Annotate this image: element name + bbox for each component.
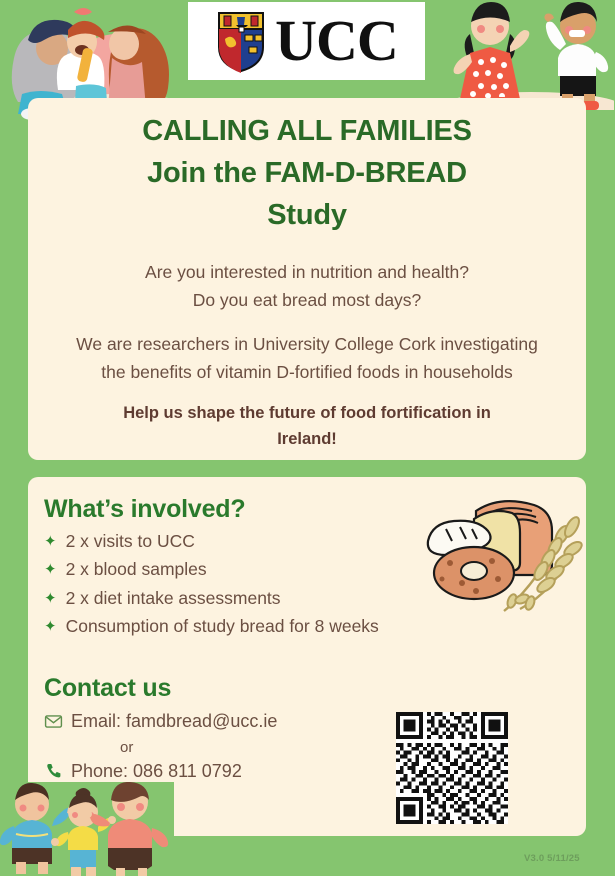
- children-illustration-top: [448, 0, 614, 110]
- sparkle-bullet-icon: ✦: [44, 619, 57, 634]
- list-item-label: 2 x diet intake assessments: [66, 588, 281, 610]
- cta-line-2: Ireland!: [70, 427, 544, 453]
- version-stamp: V3.0 5/11/25: [524, 853, 580, 864]
- contact-email-label: Email: famdbread@ucc.ie: [71, 711, 277, 732]
- contact-title: Contact us: [44, 674, 171, 703]
- poster-header: UCC: [0, 0, 615, 102]
- headline-line-3: Study: [40, 194, 574, 236]
- description-line-1: We are researchers in University College…: [34, 330, 580, 358]
- question-2: Do you eat bread most days?: [40, 286, 574, 314]
- description-line-2: the benefits of vitamin D-fortified food…: [34, 358, 580, 386]
- contact-phone[interactable]: Phone: 086 811 0792: [44, 761, 242, 782]
- study-description: We are researchers in University College…: [34, 330, 580, 387]
- contact-email[interactable]: Email: famdbread@ucc.ie: [44, 711, 277, 732]
- sparkle-bullet-icon: ✦: [44, 534, 57, 549]
- qr-code[interactable]: [396, 712, 508, 824]
- question-1: Are you interested in nutrition and heal…: [40, 258, 574, 286]
- list-item-label: 2 x visits to UCC: [66, 531, 195, 553]
- headline-line-1: CALLING ALL FAMILIES: [40, 110, 574, 152]
- envelope-icon: [44, 712, 63, 731]
- contact-phone-label: Phone: 086 811 0792: [71, 761, 242, 782]
- bread-illustration: [412, 487, 588, 617]
- list-item: ✦ 2 x blood samples: [44, 559, 444, 581]
- phone-icon: [44, 762, 63, 781]
- list-item: ✦ Consumption of study bread for 8 weeks: [44, 616, 444, 638]
- ucc-crest-icon: [215, 9, 267, 73]
- ucc-logo: UCC: [188, 2, 425, 80]
- ucc-wordmark: UCC: [275, 12, 398, 70]
- cta-line-1: Help us shape the future of food fortifi…: [70, 401, 544, 427]
- list-item: ✦ 2 x diet intake assessments: [44, 588, 444, 610]
- list-item-label: 2 x blood samples: [66, 559, 207, 581]
- involved-list: ✦ 2 x visits to UCC ✦ 2 x blood samples …: [44, 531, 444, 645]
- sparkle-bullet-icon: ✦: [44, 562, 57, 577]
- involved-title: What’s involved?: [44, 495, 245, 524]
- list-item-label: Consumption of study bread for 8 weeks: [66, 616, 379, 638]
- headline-line-2: Join the FAM-D-BREAD: [40, 152, 574, 194]
- call-to-action: Help us shape the future of food fortifi…: [70, 401, 544, 452]
- list-item: ✦ 2 x visits to UCC: [44, 531, 444, 553]
- page-title: CALLING ALL FAMILIES Join the FAM-D-BREA…: [40, 110, 574, 236]
- eligibility-questions: Are you interested in nutrition and heal…: [40, 258, 574, 314]
- sparkle-bullet-icon: ✦: [44, 591, 57, 606]
- family-illustration-bottom: [0, 782, 174, 876]
- poster-root: UCC: [0, 0, 615, 876]
- contact-separator: or: [120, 739, 133, 756]
